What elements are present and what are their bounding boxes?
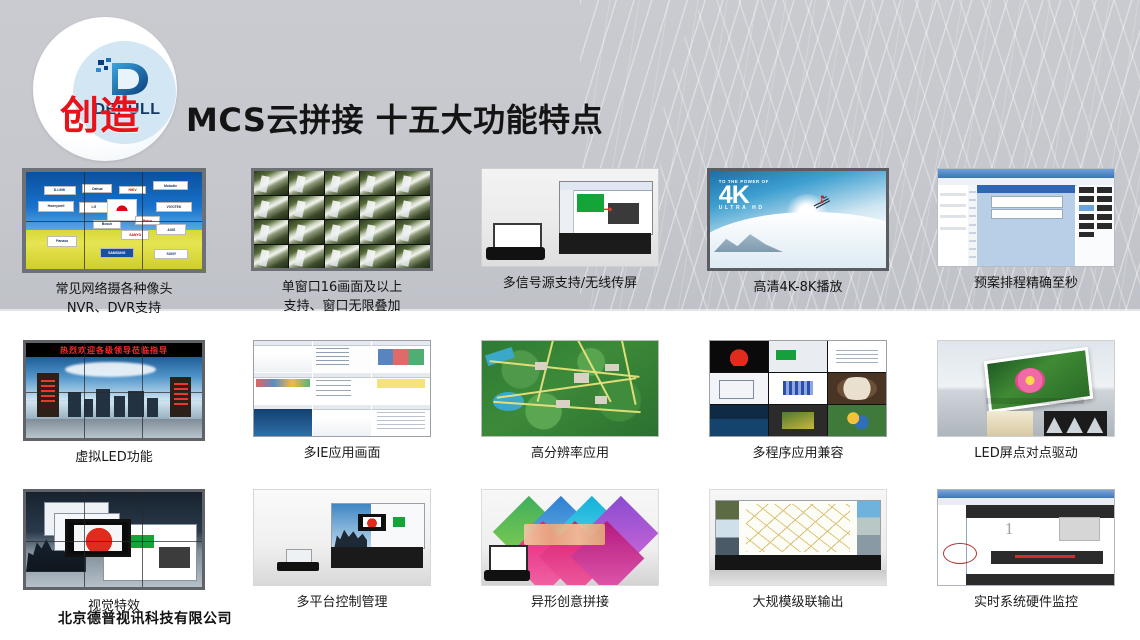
feature-cell-12[interactable]: 多平台控制管理 bbox=[228, 489, 456, 616]
page-title: MCS云拼接 十五大功能特点 bbox=[186, 95, 603, 141]
feature-cell-8[interactable]: 高分辨率应用 bbox=[456, 340, 684, 467]
feature-caption: 异形创意拼接 bbox=[531, 593, 609, 612]
feature-cell-7[interactable]: 多IE应用画面 bbox=[228, 340, 456, 467]
thumb-multi-window-grid[interactable] bbox=[251, 168, 433, 271]
feature-cell-4[interactable]: TO THE POWER OF 4K ULTRA HD 高清4K-8K播放 bbox=[684, 168, 912, 318]
thumb-diamond-creative-wall[interactable] bbox=[481, 489, 659, 586]
feature-cell-9[interactable]: 多程序应用兼容 bbox=[684, 340, 912, 467]
feature-row-1: D-LINK Dahua HIKV Mobotix Honeywell LG V… bbox=[0, 168, 1140, 318]
feature-caption: 预案排程精确至秒 bbox=[974, 274, 1078, 293]
feature-caption: 多程序应用兼容 bbox=[752, 444, 843, 463]
feature-caption: 实时系统硬件监控 bbox=[974, 593, 1078, 612]
feature-cell-3[interactable]: 多信号源支持/无线传屏 bbox=[456, 168, 684, 318]
slide-canvas: DEPULL 创造 MCS云拼接 十五大功能特点 D-LINK Dahua HI… bbox=[0, 0, 1140, 640]
highlight-ellipse bbox=[943, 543, 977, 564]
feature-caption: 高分辨率应用 bbox=[531, 444, 609, 463]
feature-row-2: 热烈欢迎各级领导莅临指导 虚拟LED功能 bbox=[0, 340, 1140, 467]
feature-cell-6[interactable]: 热烈欢迎各级领导莅临指导 虚拟LED功能 bbox=[0, 340, 228, 467]
thumb-virtual-led-city[interactable]: 热烈欢迎各级领导莅临指导 bbox=[23, 340, 205, 441]
thumb-pc-and-videowall[interactable] bbox=[481, 168, 659, 267]
thumb-multi-program-grid[interactable] bbox=[709, 340, 887, 437]
thumb-led-lotus-panel[interactable] bbox=[937, 340, 1115, 437]
led-banner: 热烈欢迎各级领导莅临指导 bbox=[26, 343, 202, 357]
feature-caption: 多IE应用画面 bbox=[303, 444, 380, 463]
feature-cell-14[interactable]: 大规模级联输出 bbox=[684, 489, 912, 616]
thumb-multi-platform-control[interactable] bbox=[253, 489, 431, 586]
feature-row-3: 视觉特效 多平台控制管理 异形创意拼接 bbox=[0, 489, 1140, 616]
monitor-number: 1 bbox=[1005, 519, 1014, 539]
feature-cell-10[interactable]: LED屏点对点驱动 bbox=[912, 340, 1140, 467]
feature-cell-13[interactable]: 异形创意拼接 bbox=[456, 489, 684, 616]
feature-cell-11[interactable]: 视觉特效 bbox=[0, 489, 228, 616]
feature-caption: 多信号源支持/无线传屏 bbox=[503, 274, 637, 293]
feature-caption: 多平台控制管理 bbox=[296, 593, 387, 612]
thumb-camera-brands-videowall[interactable]: D-LINK Dahua HIKV Mobotix Honeywell LG V… bbox=[22, 168, 206, 273]
logo-circle: DEPULL bbox=[33, 17, 177, 161]
thumb-visual-effects-windows[interactable] bbox=[23, 489, 205, 590]
feature-caption: 高清4K-8K播放 bbox=[754, 278, 843, 297]
thumb-multi-browser-grid[interactable] bbox=[253, 340, 431, 437]
feature-caption: 单窗口16画面及以上 支持、窗口无限叠加 bbox=[282, 278, 403, 316]
thumb-4k-ultra-hd-skier[interactable]: TO THE POWER OF 4K ULTRA HD bbox=[707, 168, 889, 271]
feature-grid: D-LINK Dahua HIKV Mobotix Honeywell LG V… bbox=[0, 168, 1140, 616]
brand-slogan: 创造 bbox=[60, 95, 185, 139]
huawei-logo-tile bbox=[107, 199, 137, 220]
feature-cell-1[interactable]: D-LINK Dahua HIKV Mobotix Honeywell LG V… bbox=[0, 168, 228, 318]
thumb-park-map[interactable] bbox=[481, 340, 659, 437]
feature-cell-15[interactable]: 1 实时系统硬件监控 bbox=[912, 489, 1140, 616]
thumb-schedule-software[interactable] bbox=[937, 168, 1115, 267]
feature-caption: LED屏点对点驱动 bbox=[974, 444, 1077, 463]
feature-cell-2[interactable]: 单窗口16画面及以上 支持、窗口无限叠加 bbox=[228, 168, 456, 318]
feature-cell-5[interactable]: 预案排程精确至秒 bbox=[912, 168, 1140, 318]
4k-ultra-text: ULTRA HD bbox=[719, 206, 769, 211]
feature-caption: 虚拟LED功能 bbox=[75, 448, 152, 467]
feature-caption: 常见网络摄各种像头 NVR、DVR支持 bbox=[55, 280, 172, 318]
thumb-hardware-monitor-software[interactable]: 1 bbox=[937, 489, 1115, 586]
4k-big-text: 4K bbox=[719, 184, 769, 206]
feature-caption: 大规模级联输出 bbox=[752, 593, 843, 612]
led-banner-text: 热烈欢迎各级领导莅临指导 bbox=[60, 345, 168, 356]
thumb-large-scale-wall[interactable] bbox=[709, 489, 887, 586]
4k-badge: TO THE POWER OF 4K ULTRA HD bbox=[719, 180, 769, 211]
skier-icon bbox=[802, 190, 841, 211]
company-footer: 北京德普视讯科技有限公司 bbox=[58, 608, 232, 628]
